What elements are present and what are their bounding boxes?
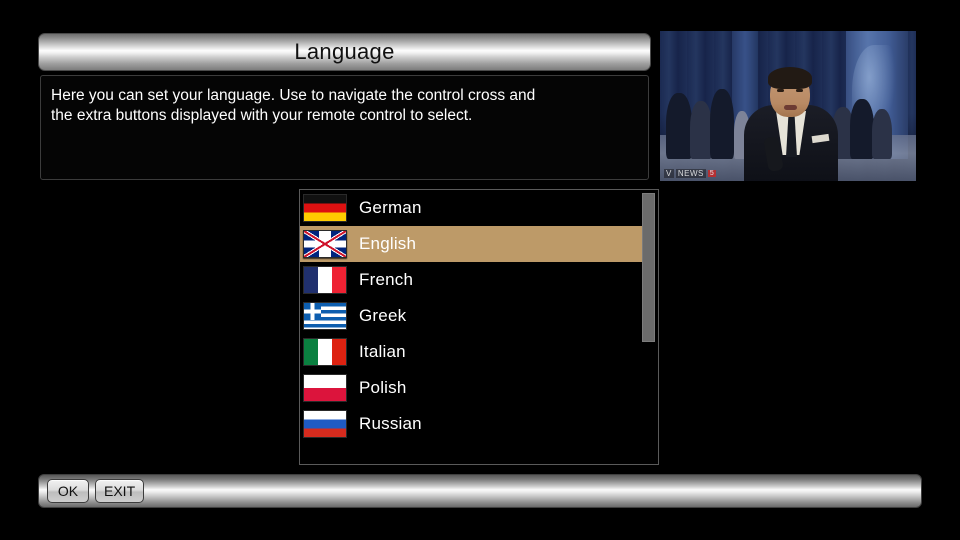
language-list-item-label: Greek	[359, 306, 406, 326]
language-list-item[interactable]: Russian	[300, 406, 643, 442]
flag-russia-icon	[303, 410, 347, 438]
reporter-eye	[796, 89, 803, 92]
tv-settings-screen: Language Here you can set your language.…	[0, 0, 960, 540]
description-text: Here you can set your language. Use to n…	[51, 86, 636, 126]
reporter-hair	[768, 67, 812, 89]
language-list-item-label: German	[359, 198, 422, 218]
language-list-item-label: Polish	[359, 378, 407, 398]
flag-italy-icon	[303, 338, 347, 366]
language-list-item-label: French	[359, 270, 413, 290]
scrollbar-thumb[interactable]	[642, 193, 655, 342]
language-list-item[interactable]: Polish	[300, 370, 643, 406]
ok-button[interactable]: OK	[47, 479, 89, 503]
crowd-silhouette	[666, 93, 692, 159]
scrollbar-track[interactable]	[642, 193, 655, 463]
flag-poland-icon	[303, 374, 347, 402]
flag-united-kingdom-icon	[303, 230, 347, 258]
language-list[interactable]: GermanEnglishFrenchGreekItalianPolishRus…	[300, 190, 643, 442]
window-title-bar: Language	[38, 33, 651, 71]
reporter-mouth	[784, 105, 797, 110]
channel-logo-watermark: V NEWS 5	[664, 167, 744, 179]
language-list-item[interactable]: French	[300, 262, 643, 298]
language-list-item[interactable]: Greek	[300, 298, 643, 334]
crowd-silhouette	[710, 89, 734, 159]
video-preview[interactable]: V NEWS 5	[660, 31, 916, 181]
bottom-action-bar: OKEXIT	[38, 474, 922, 508]
channel-logo-prefix: V	[664, 169, 674, 178]
reporter-eye	[777, 89, 784, 92]
crowd-silhouette	[690, 101, 712, 159]
page-title: Language	[294, 39, 394, 65]
language-list-item[interactable]: Italian	[300, 334, 643, 370]
language-list-item-label: Russian	[359, 414, 422, 434]
description-panel: Here you can set your language. Use to n…	[40, 75, 649, 180]
language-list-item[interactable]: English	[300, 226, 643, 262]
channel-logo-text: NEWS	[676, 169, 706, 178]
crowd-silhouette	[850, 99, 874, 159]
language-list-item-label: English	[359, 234, 416, 254]
channel-logo-mark: 5	[708, 170, 716, 177]
exit-button[interactable]: EXIT	[95, 479, 144, 503]
language-list-item-label: Italian	[359, 342, 406, 362]
flag-germany-icon	[303, 194, 347, 222]
language-list-item[interactable]: German	[300, 190, 643, 226]
language-list-panel: GermanEnglishFrenchGreekItalianPolishRus…	[299, 189, 659, 465]
crowd-silhouette	[872, 109, 892, 159]
flag-greece-icon	[303, 302, 347, 330]
flag-france-icon	[303, 266, 347, 294]
